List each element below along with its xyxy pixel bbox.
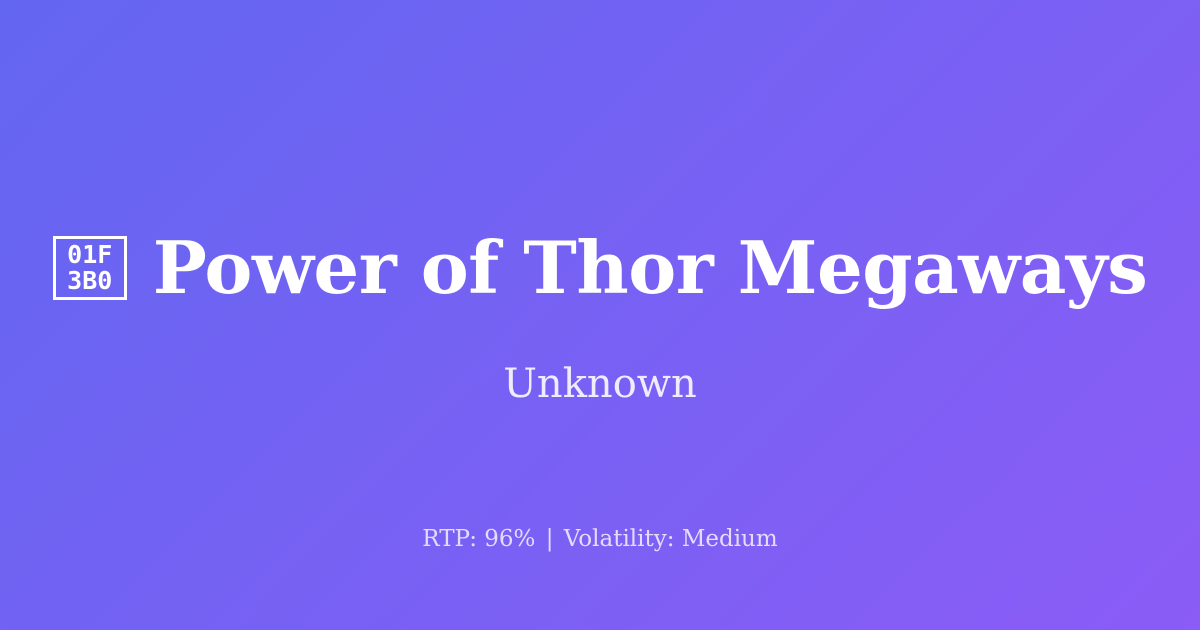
game-title: Power of Thor Megaways bbox=[153, 232, 1148, 304]
volatility-value: Medium bbox=[682, 526, 778, 552]
slot-machine-icon-codepoint-line1: 01F bbox=[67, 242, 112, 268]
slot-machine-icon: 01F 3B0 bbox=[53, 236, 127, 300]
og-preview-card: 01F 3B0 Power of Thor Megaways Unknown R… bbox=[0, 0, 1200, 630]
game-provider: Unknown bbox=[0, 362, 1200, 406]
title-row: 01F 3B0 Power of Thor Megaways bbox=[0, 232, 1200, 304]
slot-machine-icon-codepoint-line2: 3B0 bbox=[67, 268, 112, 294]
rtp-label: RTP: bbox=[422, 526, 477, 552]
volatility-label: Volatility: bbox=[564, 526, 675, 552]
game-stats-line: RTP: 96% | Volatility: Medium bbox=[0, 526, 1200, 554]
stats-separator: | bbox=[543, 526, 557, 552]
rtp-value: 96% bbox=[484, 526, 535, 552]
